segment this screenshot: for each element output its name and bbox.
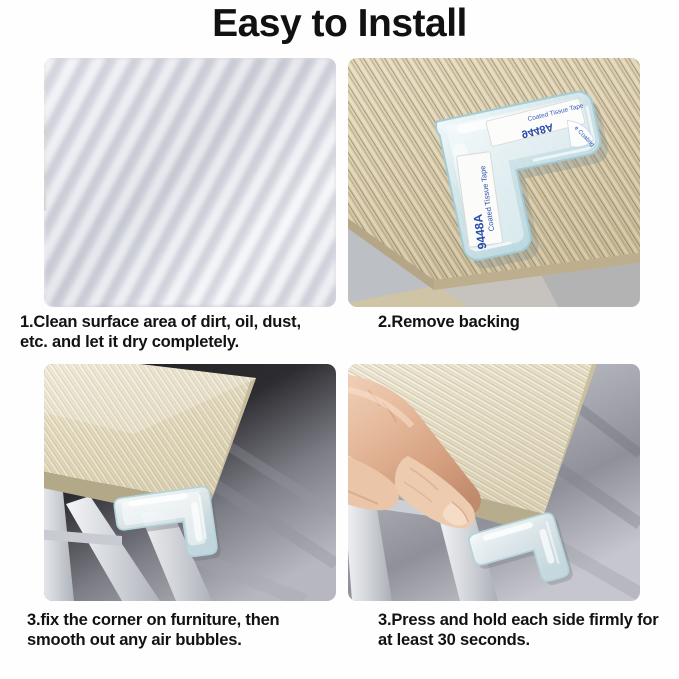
photo-hand-pressing-corner-guard	[348, 364, 640, 601]
installed-guard-illustration	[44, 364, 336, 601]
photo-corner-guard-with-adhesive-backing: 9448A Coated Tissue Tape 9448A Coated Ti…	[348, 58, 640, 307]
step-caption-4: 3.Press and hold each side firmly for at…	[378, 611, 678, 650]
photo-corner-guard-installed-on-table	[44, 364, 336, 601]
corner-guard-illustration: 9448A Coated Tissue Tape 9448A Coated Ti…	[348, 58, 640, 307]
step-caption-1: 1.Clean surface area of dirt, oil, dust,…	[20, 313, 350, 352]
hand-pressing-illustration	[348, 364, 640, 601]
photo-clean-table-corner-with-cloth	[44, 58, 336, 307]
page-title: Easy to Install	[0, 2, 679, 46]
infographic-page: Easy to Install	[0, 0, 679, 679]
step-caption-2: 2.Remove backing	[378, 313, 678, 333]
step-caption-3: 3.fix the corner on furniture, then smoo…	[27, 611, 347, 650]
floor-background	[44, 58, 336, 307]
